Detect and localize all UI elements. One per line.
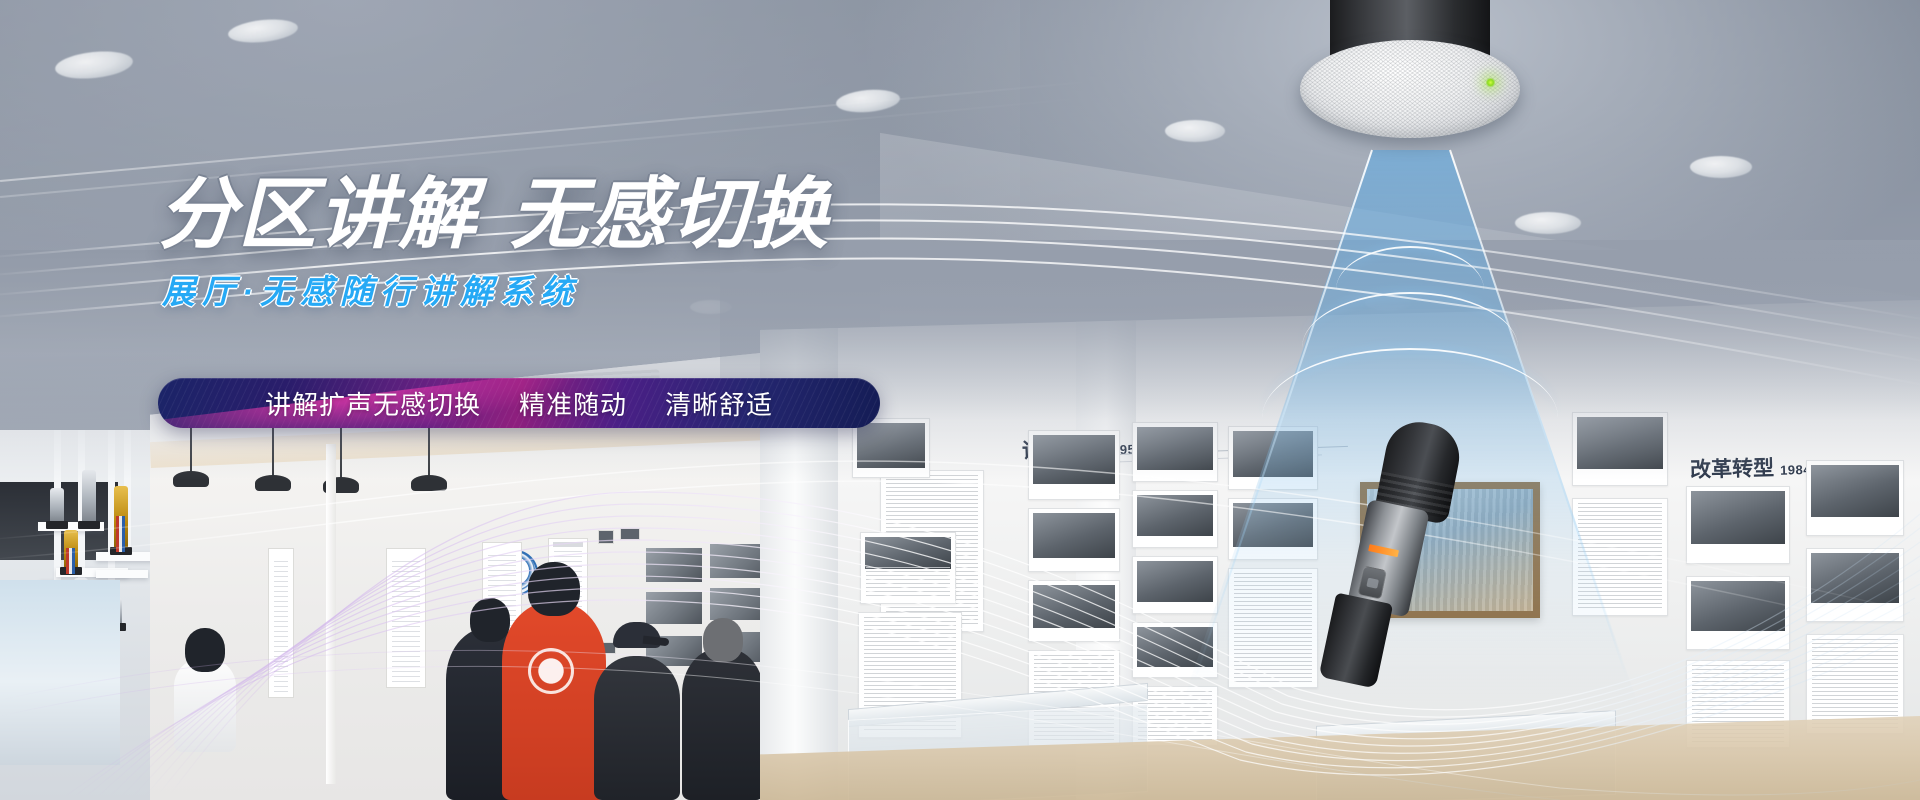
feature-pill-item-3: 清晰舒适 [665, 385, 773, 422]
page-subtitle: 展厅·无感随行讲解系统 [162, 265, 938, 313]
page-title: 分区讲解无感切换 [158, 175, 938, 255]
hero-banner: 谋求发展1952-1984 改革转型1984-2010 [0, 0, 1920, 800]
page-title-part1: 分区讲解 [158, 170, 478, 258]
speaker-grille [1300, 40, 1520, 138]
microphone-grip [1319, 592, 1394, 688]
ceiling-downlight [1165, 120, 1225, 142]
feature-pill-item-1: 讲解扩声无感切换 [265, 385, 481, 422]
ceiling-downlight [1690, 156, 1752, 178]
ceiling-downlight [1515, 212, 1581, 234]
page-title-part2: 无感切换 [510, 170, 830, 258]
speaker-status-led [1486, 78, 1495, 87]
hero-copy: 分区讲解无感切换 展厅·无感随行讲解系统 [158, 175, 938, 313]
ceiling-speaker [1300, 0, 1520, 142]
feature-pill: 讲解扩声无感切换 精准随动 清晰舒适 [158, 378, 880, 428]
feature-pill-item-2: 精准随动 [519, 385, 627, 422]
